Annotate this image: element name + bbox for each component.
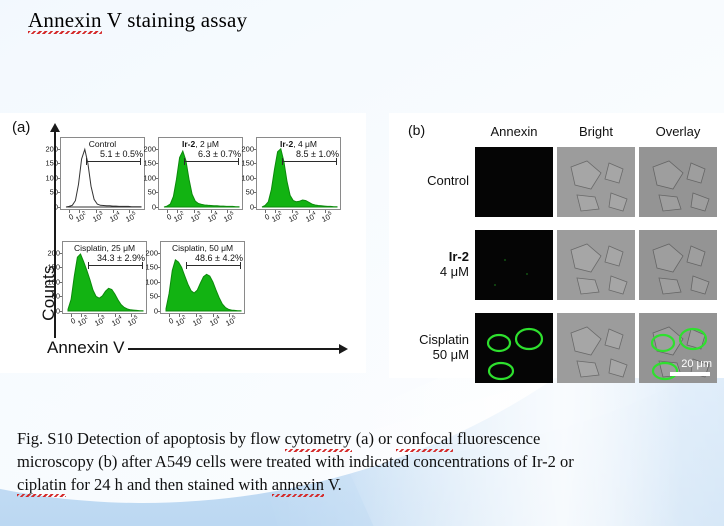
x-tick-mark [131,314,132,317]
panel-b-cell-r0-c0 [475,147,553,217]
histogram-title: Cisplatin, 25 μM [62,243,147,253]
x-tick-mark [309,210,310,213]
panel-b-cell-r2-c2: 20 μm [639,313,717,383]
histogram-1: 2001501005000102103104105Control5.1 ± 0.… [60,137,145,210]
y-tick-mark [253,192,256,193]
x-tick-label: 103 [189,210,204,224]
y-tick-mark [157,267,160,268]
panel-b-cell-r2-c0 [475,313,553,383]
y-tick-mark [57,207,60,208]
x-tick-mark [98,314,99,317]
scale-bar-label: 20 μm [681,358,712,370]
x-tick-mark [292,210,293,213]
title-spellcheck-word: Annexin [28,8,102,33]
x-tick-mark [196,314,197,317]
panel-b-column-header-bright: Bright [557,124,635,139]
gate-bracket [184,161,240,162]
gate-bracket [88,265,144,266]
y-tick-mark [253,163,256,164]
x-tick-label: 102 [270,210,285,224]
x-tick-label: 102 [172,210,187,224]
x-tick-label: 104 [109,314,124,328]
micrograph-content [557,147,635,217]
x-tick-mark [169,314,170,317]
x-tick-group: 0102103104105 [160,314,245,336]
panel-b-row-label-2: Cisplatin50 μM [391,332,469,363]
scale-bar [670,372,710,376]
panel-b-cell-r2-c1 [557,313,635,383]
y-tick-mark [155,207,158,208]
figure-panel-b: (b) AnnexinBrightOverlayControlIr-24 μMC… [389,113,724,378]
panel-b-column-header-overlay: Overlay [639,124,717,139]
micrograph-content [639,147,717,217]
x-tick-label: 102 [174,314,189,328]
y-tick-mark [155,163,158,164]
micrograph-content [475,147,553,217]
x-tick-label: 103 [287,210,302,224]
x-tick-mark [129,210,130,213]
x-tick-mark [69,210,70,213]
x-tick-label: 103 [93,314,108,328]
gate-percent-label: 48.6 ± 4.2% [195,253,243,263]
x-tick-mark [213,314,214,317]
micrograph-content [475,313,553,383]
page-title: Annexin V staining assay [28,8,247,33]
x-tick-group: 0102103104105 [62,314,147,336]
x-tick-label: 103 [91,210,106,224]
x-tick-label: 104 [205,210,220,224]
caption-line-2: microscopy (b) after A549 cells were tre… [17,451,707,474]
x-tick-mark [265,210,266,213]
histogram-title: Cisplatin, 50 μM [160,243,245,253]
figure-panel-a: (a) Counts Annexin V 2001501005000102103… [0,113,366,373]
x-tick-label: 105 [124,210,139,224]
x-tick-mark [71,314,72,317]
x-tick-mark [96,210,97,213]
x-tick-label: 105 [224,314,239,328]
x-tick-mark [227,210,228,213]
x-tick-group: 0102103104105 [256,210,341,232]
histogram-title: Ir-2, 2 μM [158,139,243,149]
figure-caption: Fig. S10 Detection of apoptosis by flow … [17,428,707,496]
x-tick-label: 105 [320,210,335,224]
x-tick-label: 103 [191,314,206,328]
x-tick-label: 104 [207,314,222,328]
x-tick-mark [113,210,114,213]
y-tick-mark [59,282,62,283]
x-tick-mark [275,210,276,213]
y-tick-mark [57,178,60,179]
micrograph-content [557,230,635,300]
x-tick-mark [167,210,168,213]
y-tick-mark [59,267,62,268]
y-tick-mark [155,178,158,179]
histogram-4: 2001501005000102103104105Cisplatin, 25 μ… [62,241,147,314]
panel-b-cell-r1-c1 [557,230,635,300]
x-tick-label: 104 [107,210,122,224]
histogram-2: 2001501005000102103104105Ir-2, 2 μM6.3 ±… [158,137,243,210]
gate-percent-label: 5.1 ± 0.5% [100,149,143,159]
y-tick-mark [157,311,160,312]
gate-bracket [282,161,338,162]
panel-b-column-header-annexin: Annexin [475,124,553,139]
title-rest: V staining assay [102,8,248,32]
y-tick-mark [157,296,160,297]
x-tick-mark [81,314,82,317]
x-tick-label: 104 [303,210,318,224]
panel-b-cell-r1-c0 [475,230,553,300]
histogram-5: 2001501005000102103104105Cisplatin, 50 μ… [160,241,245,314]
panel-b-row-label-1: Ir-24 μM [391,249,469,280]
x-tick-label: 105 [222,210,237,224]
caption-line-1: Fig. S10 Detection of apoptosis by flow … [17,428,707,451]
gate-percent-label: 8.5 ± 1.0% [296,149,339,159]
slide-canvas: Annexin V staining assay (a) Counts Anne… [0,0,724,526]
panel-b-cell-r1-c2 [639,230,717,300]
panel-a-x-axis-label: Annexin V [47,338,128,358]
x-tick-mark [115,314,116,317]
x-tick-mark [325,210,326,213]
x-tick-mark [194,210,195,213]
y-tick-mark [253,178,256,179]
y-tick-mark [57,192,60,193]
gate-percent-label: 6.3 ± 0.7% [198,149,241,159]
panel-b-row-label-0: Control [391,173,469,188]
histogram-3: 2001501005000102103104105Ir-2, 4 μM8.5 ±… [256,137,341,210]
y-tick-mark [57,163,60,164]
y-tick-mark [253,207,256,208]
gate-bracket [86,161,142,162]
histogram-title: Ir-2, 4 μM [256,139,341,149]
x-tick-group: 0102103104105 [158,210,243,232]
y-tick-mark [59,296,62,297]
panel-b-label: (b) [408,122,425,138]
panel-a-label: (a) [12,119,30,136]
y-tick-mark [155,192,158,193]
micrograph-content [639,230,717,300]
x-tick-label: 102 [76,314,91,328]
x-tick-mark [177,210,178,213]
micrograph-content [475,230,553,300]
panel-b-cell-r0-c2 [639,147,717,217]
x-tick-group: 0102103104105 [60,210,145,232]
x-tick-mark [229,314,230,317]
gate-percent-label: 34.3 ± 2.9% [97,253,145,263]
y-tick-mark [59,311,62,312]
x-tick-label: 102 [74,210,89,224]
x-tick-label: 105 [126,314,141,328]
histogram-title: Control [60,139,145,149]
gate-bracket [186,265,242,266]
x-tick-mark [211,210,212,213]
panel-b-cell-r0-c1 [557,147,635,217]
y-tick-mark [157,282,160,283]
x-tick-mark [179,314,180,317]
x-tick-mark [79,210,80,213]
caption-line-3: ciplatin for 24 h and then stained with … [17,474,707,497]
micrograph-content [557,313,635,383]
